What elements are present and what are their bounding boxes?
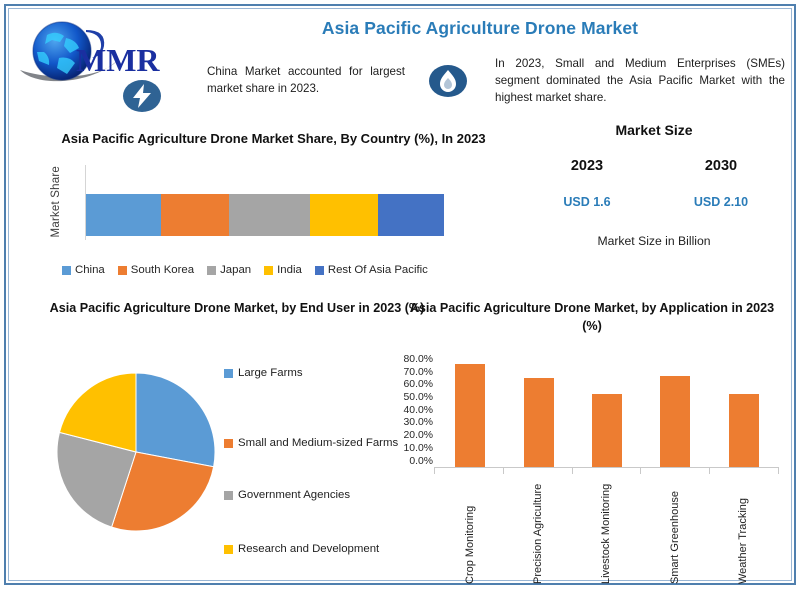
x-label: Livestock Monitoring <box>584 476 630 584</box>
market-size-heading: Market Size <box>520 122 788 138</box>
bar-precision-agriculture <box>524 378 554 467</box>
legend-swatch <box>62 266 71 275</box>
x-tick <box>434 467 435 474</box>
bar-segment-india <box>310 194 378 236</box>
y-tick-label: 70.0% <box>404 368 433 378</box>
legend-item: Research and Development <box>224 542 379 557</box>
x-tick <box>503 467 504 474</box>
y-tick-label: 0.0% <box>409 457 433 467</box>
y-tick-label: 40.0% <box>404 406 433 416</box>
application-chart-title: Asia Pacific Agriculture Drone Market, b… <box>402 300 782 335</box>
legend-label: India <box>277 264 302 276</box>
application-x-ticks <box>434 467 778 474</box>
y-tick-label: 20.0% <box>404 431 433 441</box>
market-size-value: USD 2.10 <box>659 195 782 209</box>
bar-segment-south-korea <box>161 194 229 236</box>
market-size-value: USD 1.6 <box>525 195 648 209</box>
market-size-column-2023: 2023 USD 1.6 <box>525 158 648 209</box>
infographic-canvas: MMR Asia Pacific Agriculture Drone Marke… <box>0 0 800 589</box>
country-legend: China South Korea Japan India Rest Of As… <box>62 264 492 276</box>
bar-weather-tracking <box>729 394 759 467</box>
bar-livestock-monitoring <box>592 394 622 467</box>
legend-swatch <box>224 369 233 378</box>
application-x-labels: Crop Monitoring Precision Agriculture Li… <box>436 476 778 584</box>
bar-segment-china <box>86 194 161 236</box>
y-tick-label: 50.0% <box>404 393 433 403</box>
end-user-pie <box>56 372 216 532</box>
legend-item: India <box>264 264 302 276</box>
x-tick <box>709 467 710 474</box>
legend-swatch <box>224 545 233 554</box>
x-label: Precision Agriculture <box>516 476 562 584</box>
legend-label: Japan <box>220 264 251 276</box>
legend-label: Large Farms <box>238 366 303 381</box>
y-tick-label: 30.0% <box>404 418 433 428</box>
x-tick <box>572 467 573 474</box>
x-tick <box>640 467 641 474</box>
application-y-axis: 80.0% 70.0% 60.0% 50.0% 40.0% 30.0% 20.0… <box>375 355 433 467</box>
market-size-panel: Market Size 2023 USD 1.6 2030 USD 2.10 M… <box>520 122 788 287</box>
legend-item: China <box>62 264 105 276</box>
legend-swatch <box>118 266 127 275</box>
y-tick-label: 80.0% <box>404 355 433 365</box>
bar-crop-monitoring <box>455 364 485 467</box>
legend-item: Government Agencies <box>224 488 350 503</box>
legend-swatch <box>224 439 233 448</box>
x-label-text: Livestock Monitoring <box>600 476 613 584</box>
country-chart-ylabel: Market Share <box>50 166 62 237</box>
bar-segment-rest-of-asia-pacific <box>378 194 444 236</box>
legend-label: China <box>75 264 105 276</box>
page-title: Asia Pacific Agriculture Drone Market <box>180 18 780 39</box>
svg-text:MMR: MMR <box>76 42 160 78</box>
x-label-text: Crop Monitoring <box>464 476 477 584</box>
legend-label: Research and Development <box>238 542 379 557</box>
bar-smart-greenhouse <box>660 376 690 467</box>
legend-swatch <box>207 266 216 275</box>
application-plot-area <box>436 357 778 467</box>
pie-slice <box>136 373 215 467</box>
market-size-column-2030: 2030 USD 2.10 <box>659 158 782 209</box>
left-blurb: China Market accounted for largest marke… <box>207 64 405 98</box>
x-label-text: Smart Greenhouse <box>669 476 682 584</box>
country-stacked-bar <box>86 194 444 236</box>
market-size-year: 2030 <box>659 158 782 174</box>
legend-item: Japan <box>207 264 251 276</box>
legend-item: Rest Of Asia Pacific <box>315 264 428 276</box>
flame-icon <box>427 64 469 98</box>
legend-label: Government Agencies <box>238 488 350 503</box>
y-tick-label: 60.0% <box>404 380 433 390</box>
lightning-bolt-icon <box>121 79 163 113</box>
bar-segment-japan <box>229 194 310 236</box>
legend-swatch <box>264 266 273 275</box>
x-label: Smart Greenhouse <box>652 476 698 584</box>
legend-item: South Korea <box>118 264 194 276</box>
y-tick-label: 10.0% <box>404 444 433 454</box>
legend-swatch <box>315 266 324 275</box>
legend-label: Rest Of Asia Pacific <box>328 264 428 276</box>
x-label-text: Precision Agriculture <box>532 476 545 584</box>
country-chart-title: Asia Pacific Agriculture Drone Market Sh… <box>46 130 501 148</box>
x-tick <box>778 467 779 474</box>
application-chart: Asia Pacific Agriculture Drone Market, b… <box>372 300 788 585</box>
x-label: Weather Tracking <box>721 476 767 584</box>
market-size-footnote: Market Size in Billion <box>520 234 788 248</box>
x-label-text: Weather Tracking <box>737 476 750 584</box>
market-size-columns: 2023 USD 1.6 2030 USD 2.10 <box>520 158 788 209</box>
legend-label: South Korea <box>131 264 194 276</box>
right-blurb: In 2023, Small and Medium Enterprises (S… <box>495 56 785 106</box>
x-label: Crop Monitoring <box>447 476 493 584</box>
legend-item: Large Farms <box>224 366 303 381</box>
legend-swatch <box>224 491 233 500</box>
market-size-year: 2023 <box>525 158 648 174</box>
